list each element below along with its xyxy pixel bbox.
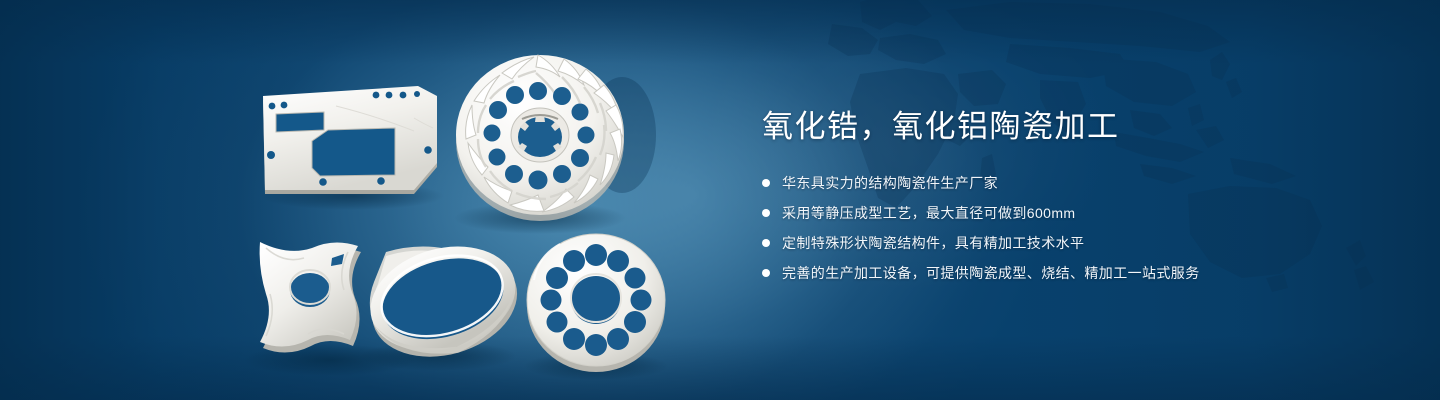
dot-icon (762, 269, 770, 277)
banner-copy: 氧化锆，氧化铝陶瓷加工 华东具实力的结构陶瓷件生产厂家 采用等静压成型工艺，最大… (762, 108, 1382, 284)
ceramic-products-banner: 氧化锆，氧化铝陶瓷加工 华东具实力的结构陶瓷件生产厂家 采用等静压成型工艺，最大… (0, 0, 1440, 400)
ceramic-mounting-plate (263, 86, 437, 194)
list-item: 华东具实力的结构陶瓷件生产厂家 (762, 172, 1382, 194)
feature-list: 华东具实力的结构陶瓷件生产厂家 采用等静压成型工艺，最大直径可做到600mm 定… (762, 172, 1382, 284)
dot-icon (762, 179, 770, 187)
list-item: 采用等静压成型工艺，最大直径可做到600mm (762, 202, 1382, 224)
list-item: 完善的生产加工设备，可提供陶瓷成型、烧结、精加工一站式服务 (762, 262, 1382, 284)
ceramic-impeller (456, 55, 624, 221)
list-item: 定制特殊形状陶瓷结构件，具有精加工技术水平 (762, 232, 1382, 254)
dot-icon (762, 239, 770, 247)
page-title: 氧化锆，氧化铝陶瓷加工 (762, 108, 1382, 146)
ceramic-perforated-disc (527, 234, 665, 372)
feature-text: 采用等静压成型工艺，最大直径可做到600mm (782, 202, 1075, 224)
feature-text: 定制特殊形状陶瓷结构件，具有精加工技术水平 (782, 232, 1084, 254)
ceramic-cross-part (260, 242, 361, 353)
feature-text: 华东具实力的结构陶瓷件生产厂家 (782, 172, 998, 194)
dot-icon (762, 209, 770, 217)
feature-text: 完善的生产加工设备，可提供陶瓷成型、烧结、精加工一站式服务 (782, 262, 1200, 284)
product-photo-group (0, 0, 740, 400)
